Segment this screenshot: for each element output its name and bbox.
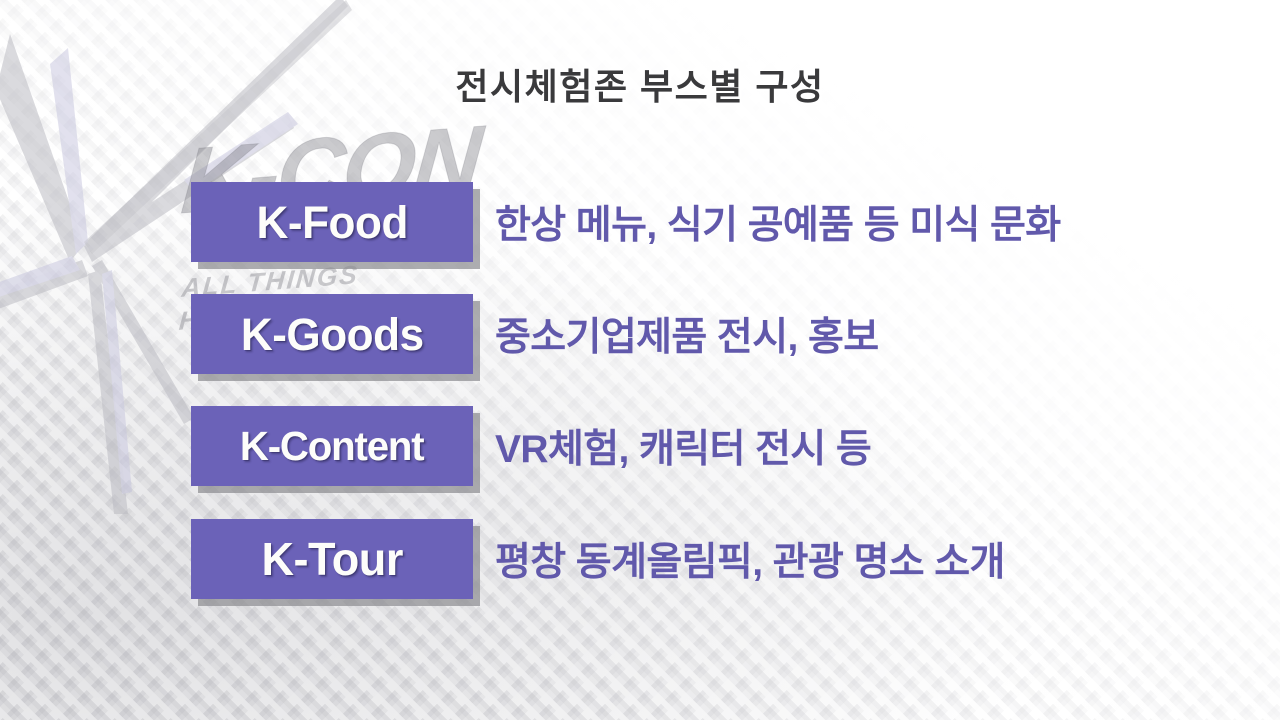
booth-description: 중소기업제품 전시, 홍보 [495, 294, 879, 374]
chip-label: K-Tour [261, 536, 402, 582]
list-item: K-Content VR체험, 캐릭터 전시 등 [0, 406, 1280, 490]
chip-body: K-Goods [191, 294, 473, 374]
booth-chip: K-Content [191, 406, 473, 486]
booth-chip: K-Food [191, 182, 473, 262]
chip-body: K-Content [191, 406, 473, 486]
chip-label: K-Goods [241, 312, 424, 357]
chip-body: K-Food [191, 182, 473, 262]
booth-chip: K-Goods [191, 294, 473, 374]
chip-label: K-Food [256, 200, 407, 245]
booth-chip: K-Tour [191, 519, 473, 599]
booth-description: 평창 동계올림픽, 관광 명소 소개 [495, 519, 1005, 599]
booth-description: VR체험, 캐릭터 전시 등 [495, 406, 871, 486]
list-item: K-Goods 중소기업제품 전시, 홍보 [0, 294, 1280, 378]
booth-list: K-Food 한상 메뉴, 식기 공예품 등 미식 문화 K-Goods 중소기… [0, 0, 1280, 720]
broadcast-graphic-slide: K-CON ALL THINGSHALLYU 전시체험존 부스별 구성 K-Fo… [0, 0, 1280, 720]
booth-description: 한상 메뉴, 식기 공예품 등 미식 문화 [495, 182, 1061, 262]
chip-body: K-Tour [191, 519, 473, 599]
list-item: K-Tour 평창 동계올림픽, 관광 명소 소개 [0, 519, 1280, 603]
chip-label: K-Content [240, 426, 424, 467]
list-item: K-Food 한상 메뉴, 식기 공예품 등 미식 문화 [0, 182, 1280, 266]
